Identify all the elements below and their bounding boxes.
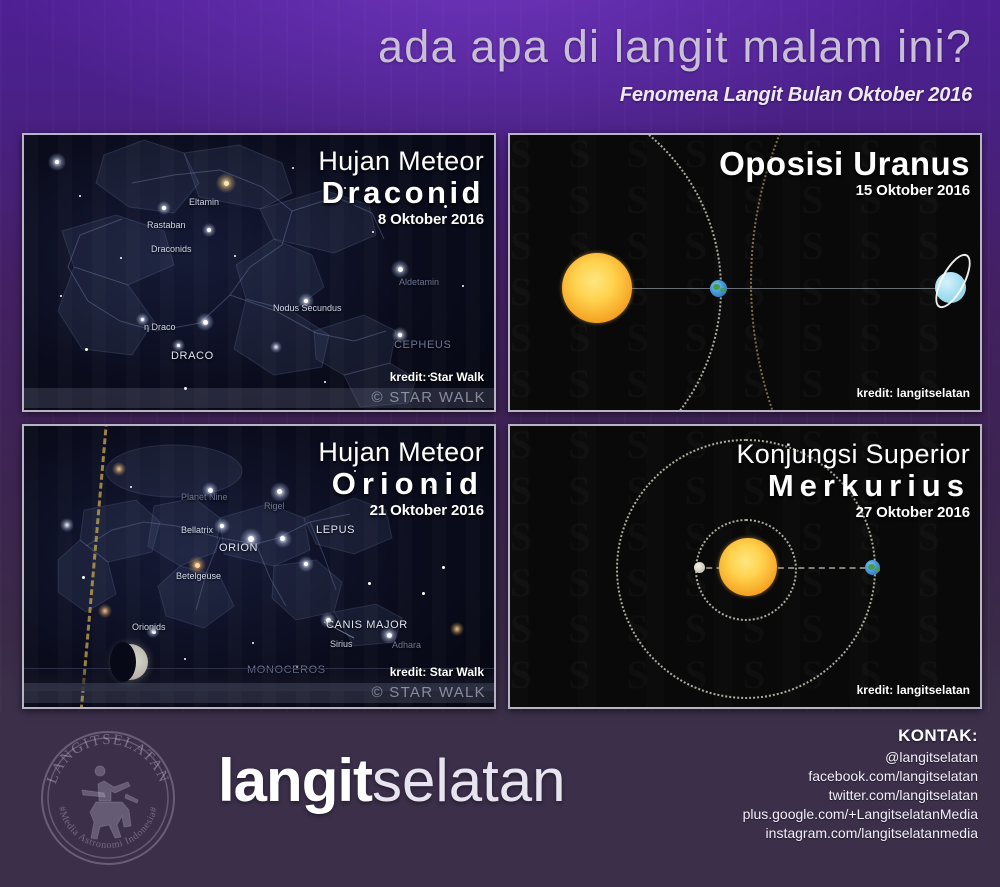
star — [85, 348, 88, 351]
star — [442, 566, 445, 569]
earth-body — [865, 560, 880, 575]
star — [82, 576, 85, 579]
poster-root: ada apa di langit malam ini? Fenomena La… — [0, 0, 1000, 887]
header: ada apa di langit malam ini? Fenomena La… — [0, 0, 1000, 122]
constellation-label: DRACO — [171, 350, 214, 362]
star-bellatrix — [220, 524, 224, 528]
starwalk-watermark-text: © STAR WALK — [371, 388, 486, 408]
star-eltamin — [224, 181, 229, 186]
panel-date: 21 Oktober 2016 — [318, 501, 484, 520]
star — [184, 658, 186, 660]
star-label: Draconids — [151, 244, 192, 254]
contact-twitter[interactable]: twitter.com/langitselatan — [743, 786, 978, 805]
contact-googleplus[interactable]: plus.google.com/+LangitselatanMedia — [743, 805, 978, 824]
panel-credit: kredit: Star Walk — [390, 370, 484, 384]
star-glow — [112, 462, 126, 476]
star-label: Rigel — [264, 501, 285, 511]
star-label: Rastaban — [147, 220, 186, 230]
star — [55, 160, 59, 164]
star — [79, 195, 81, 197]
centaur-archer-emblem — [82, 766, 138, 839]
star-label: Orionids — [132, 622, 166, 632]
star — [398, 333, 402, 337]
star-glow — [60, 518, 74, 532]
star — [422, 592, 425, 595]
star-rigel — [277, 489, 282, 494]
star-glow — [270, 341, 282, 353]
alignment-line — [605, 288, 950, 289]
starwalk-watermark-text: © STAR WALK — [371, 683, 486, 703]
star-aldetamin — [398, 267, 403, 272]
contact-facebook[interactable]: facebook.com/langitselatan — [743, 767, 978, 786]
panel-name: Orionid — [318, 467, 484, 501]
earth-body — [710, 280, 727, 297]
star — [203, 320, 208, 325]
star-betelgeuse — [195, 563, 200, 568]
panel-kicker: Hujan Meteor — [318, 147, 484, 176]
contact-block: KONTAK: @langitselatan facebook.com/lang… — [743, 726, 978, 843]
star — [177, 344, 180, 347]
panel-orionid[interactable]: Planet Nine Rigel Bellatrix LEPUS ORION … — [22, 424, 496, 709]
constellation-label: ORION — [219, 542, 258, 554]
page-title: ada apa di langit malam ini? — [378, 22, 972, 72]
star — [368, 582, 371, 585]
panel-title-orionid: Hujan Meteor Orionid 21 Oktober 2016 — [318, 438, 484, 520]
contact-title: KONTAK: — [743, 726, 978, 746]
panel-konjungsi-merkurius[interactable]: SSSSSSSS SSSSSSSS SSSSSSSS SSSSSSSS SSSS… — [508, 424, 982, 709]
contact-handle[interactable]: @langitselatan — [743, 748, 978, 767]
star-glow — [450, 622, 464, 636]
star — [324, 381, 326, 383]
star-label: Betelgeuse — [176, 571, 221, 581]
panel-title-uranus: Oposisi Uranus 15 Oktober 2016 — [719, 147, 970, 200]
moon-body — [112, 644, 148, 680]
star — [60, 295, 62, 297]
star-label: η Draco — [144, 322, 176, 332]
langitselatan-logo: LANGITSELATAN #Media Astronomi Indonesia… — [38, 728, 178, 868]
starwalk-watermark-bar: © STAR WALK — [24, 683, 494, 703]
star-label: Planet Nine — [181, 492, 228, 502]
wordmark-bold: langit — [218, 747, 372, 814]
panel-kicker: Konjungsi Superior — [736, 440, 970, 469]
constellation-label: LEPUS — [316, 524, 355, 536]
star-glow — [98, 604, 112, 618]
star-label: Aldetamin — [399, 277, 439, 287]
panel-title-draconid: Hujan Meteor Draconid 8 Oktober 2016 — [318, 147, 484, 229]
constellation-label: CANIS MAJOR — [326, 619, 408, 631]
panel-date: 8 Oktober 2016 — [318, 210, 484, 229]
star-eta-draco — [141, 318, 144, 321]
contact-instagram[interactable]: instagram.com/langitselatanmedia — [743, 824, 978, 843]
star — [280, 536, 285, 541]
panel-name: Merkurius — [736, 469, 970, 503]
wordmark-light: selatan — [372, 747, 565, 814]
panel-date: 15 Oktober 2016 — [719, 181, 970, 200]
page-subtitle: Fenomena Langit Bulan Oktober 2016 — [620, 84, 972, 107]
brand-wordmark: langitselatan — [218, 748, 565, 814]
starwalk-watermark-bar: © STAR WALK — [24, 388, 494, 408]
star — [304, 562, 308, 566]
star-label: Nodus Secundus — [273, 303, 342, 313]
sun-body — [562, 253, 632, 323]
panel-kicker: Hujan Meteor — [318, 438, 484, 467]
star — [292, 167, 294, 169]
panel-name: Draconid — [318, 176, 484, 210]
mercury-body — [694, 562, 705, 573]
star — [130, 486, 132, 488]
panel-draconid[interactable]: Eltamin Rastaban Draconids Nodus Secundu… — [22, 133, 496, 412]
panel-name: Oposisi Uranus — [719, 147, 970, 181]
star — [252, 642, 254, 644]
star-label: Sirius — [330, 639, 353, 649]
panel-title-merkurius: Konjungsi Superior Merkurius 27 Oktober … — [736, 440, 970, 522]
panel-oposisi-uranus[interactable]: SSSSSSSS SSSSSSSS SSSSSSSS SSSSSSSS SSSS… — [508, 133, 982, 412]
panel-credit: kredit: langitselatan — [857, 683, 970, 697]
star — [372, 231, 374, 233]
constellation-label: CEPHEUS — [394, 339, 451, 351]
star-label: Eltamin — [189, 197, 219, 207]
star-label: Bellatrix — [181, 525, 213, 535]
star-rastaban — [162, 206, 166, 210]
star — [234, 255, 236, 257]
panel-credit: kredit: langitselatan — [857, 386, 970, 400]
star-adhara — [387, 633, 392, 638]
sun-body — [719, 538, 777, 596]
star-label: Adhara — [392, 640, 421, 650]
panel-date: 27 Oktober 2016 — [736, 503, 970, 522]
star — [462, 285, 464, 287]
star — [207, 228, 211, 232]
panel-credit: kredit: Star Walk — [390, 665, 484, 679]
star — [120, 257, 122, 259]
